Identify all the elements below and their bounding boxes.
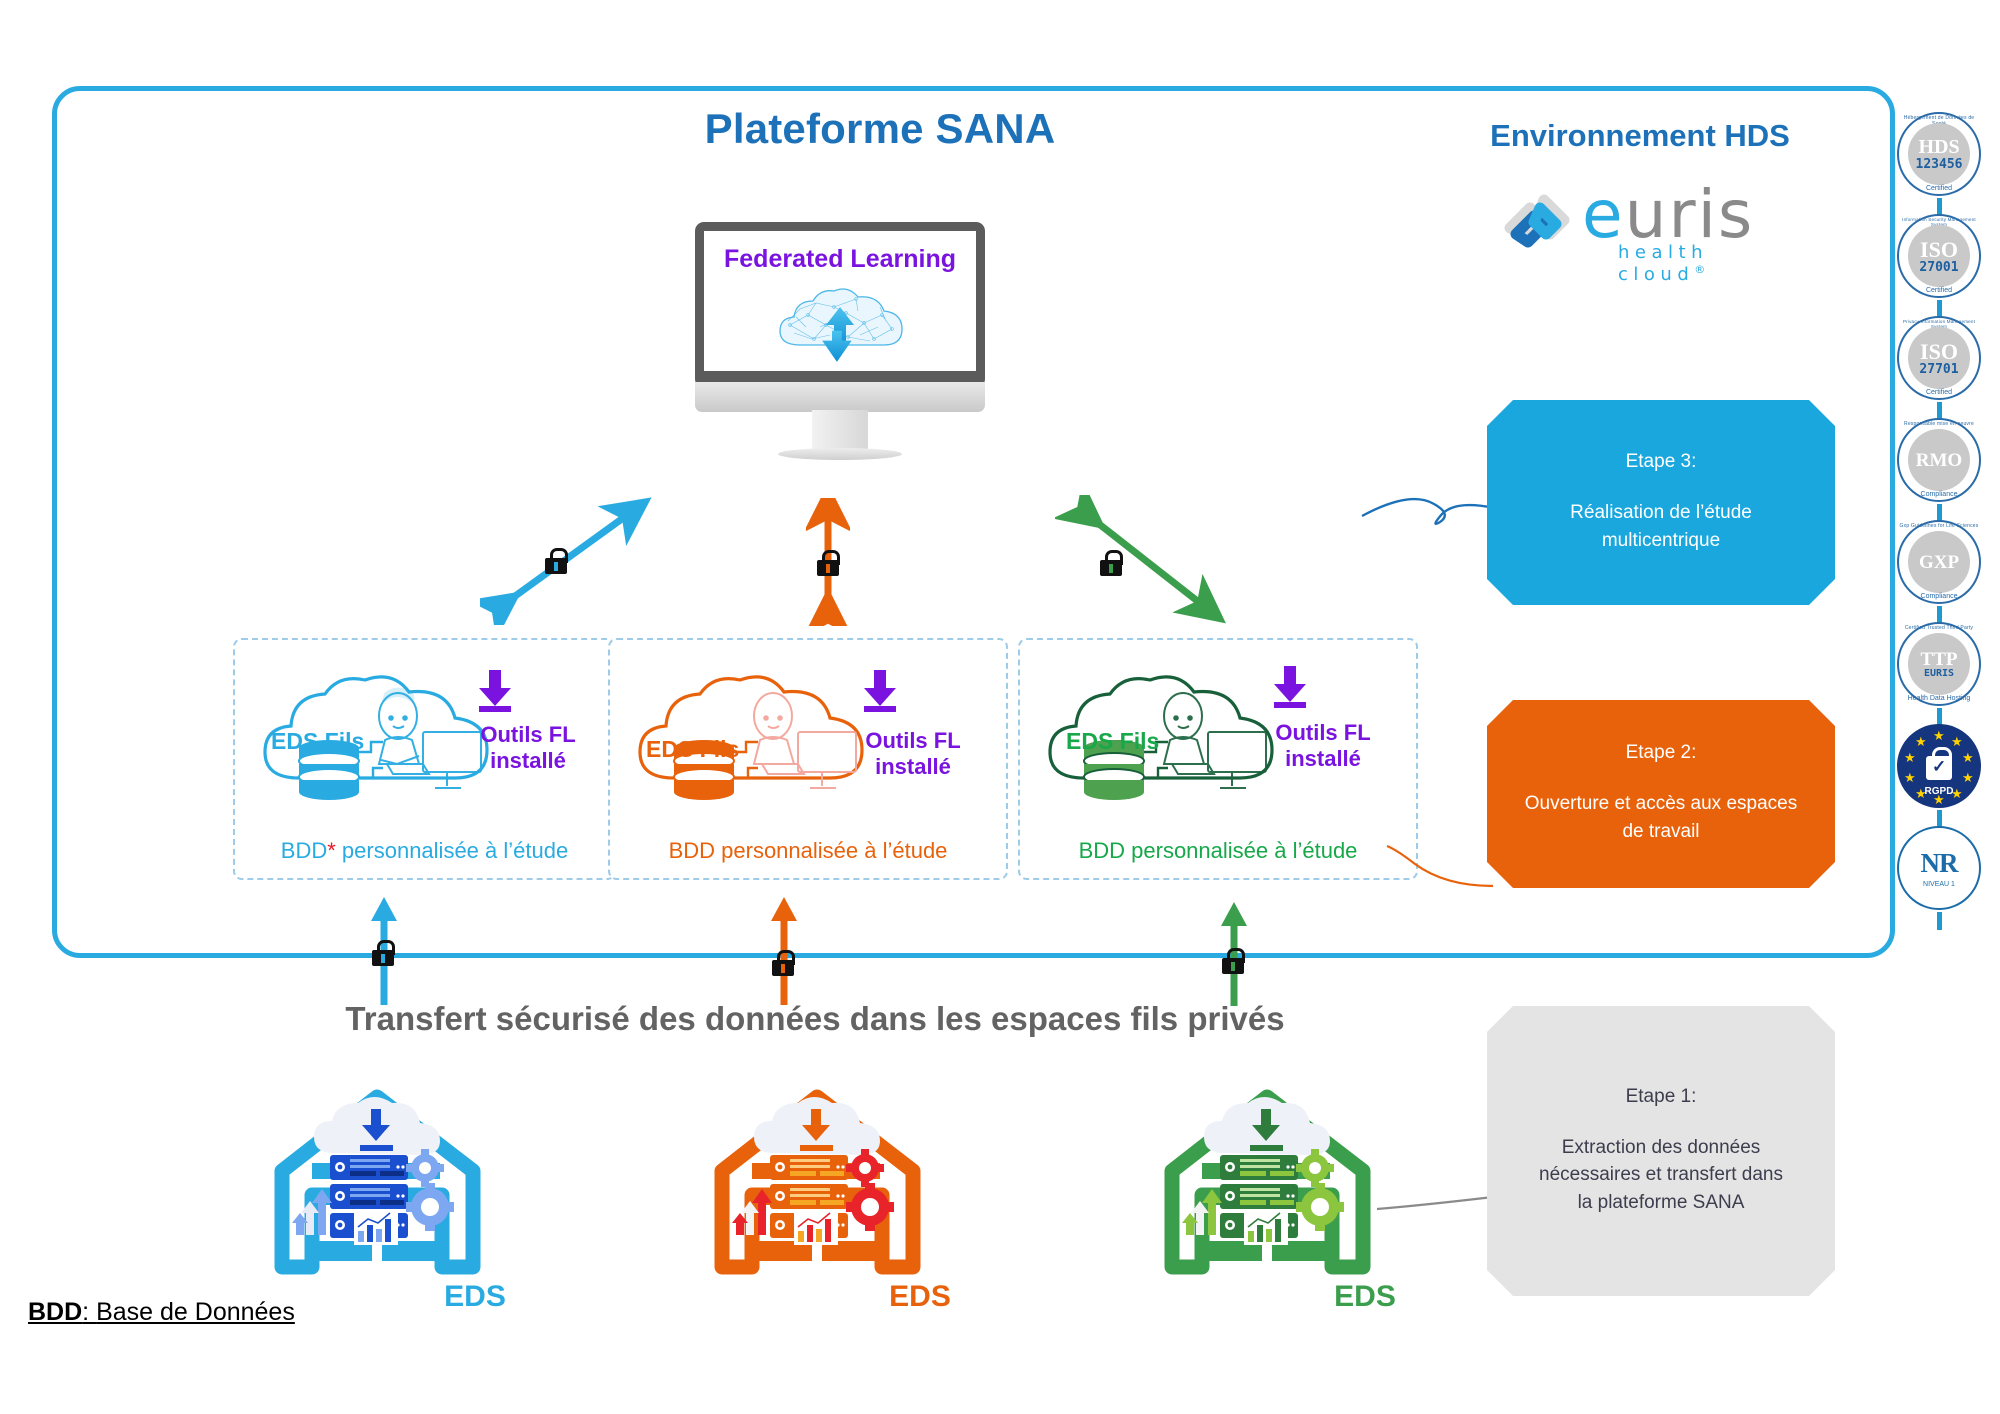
badge-iso-27001: Information Security Management System I… xyxy=(1897,214,1981,298)
step-1-box[interactable]: Etape 1: Extraction des données nécessai… xyxy=(1487,1006,1835,1296)
environment-title: Environnement HDS xyxy=(1420,118,1860,154)
datacenter-house-icon xyxy=(1160,1085,1375,1280)
fils-tools-label: Outils FLinstallé xyxy=(1258,720,1388,772)
monitor-neck xyxy=(812,410,868,452)
fils-caption: BDD personnalisée à l’étude xyxy=(1020,838,1416,864)
certification-badge-column: Hébergement de Données de Santé HDS 1234… xyxy=(1893,112,1985,928)
badge-bottom-text: Health Data Hosting xyxy=(1897,695,1981,702)
badge-main-text: GXP xyxy=(1919,553,1959,572)
padlock-icon xyxy=(545,548,567,574)
step-description: Extraction des données nécessaires et tr… xyxy=(1487,1134,1835,1217)
footnote-definition: Base de Données xyxy=(96,1298,295,1326)
badge-top-text: Certified Trusted Third Party xyxy=(1897,625,1981,631)
bar-chart-icon xyxy=(794,1211,838,1245)
transfer-banner: Transfert sécurisé des données dans les … xyxy=(255,1000,1375,1038)
eds-label: EDS xyxy=(1290,1280,1440,1314)
fils-caption: BDD personnalisée à l’étude xyxy=(610,838,1006,864)
step1-connector xyxy=(1375,1175,1495,1215)
badge-bottom-text: NIVEAU 1 xyxy=(1923,881,1955,888)
footnote: BDD: Base de Données xyxy=(28,1298,295,1327)
padlock-icon xyxy=(772,950,794,976)
fils-space-2: EDS Fils Outils FLinstallé BDD personnal… xyxy=(608,638,1008,880)
datacenter-house-icon xyxy=(270,1085,485,1280)
padlock-icon xyxy=(1100,550,1122,576)
badge-rgpd: ★ ★ ★ ★ ★ ★ ★ ★ ★ ★ ✓ RGPD xyxy=(1897,724,1981,808)
badge-bottom-text: Certified xyxy=(1897,287,1981,294)
padlock-icon xyxy=(372,940,394,966)
step2-connector xyxy=(1385,840,1495,890)
federated-learning-monitor: Federated Learning xyxy=(695,222,985,452)
badge-main-text: ISO xyxy=(1920,239,1958,261)
badge-main-text: RGPD xyxy=(1897,786,1981,797)
badge-bottom-text: Certified xyxy=(1897,389,1981,396)
badge-number: 27701 xyxy=(1919,363,1958,376)
badge-number: EURIS xyxy=(1924,669,1954,679)
badge-bottom-text: Compliance xyxy=(1897,593,1981,600)
padlock-icon xyxy=(1222,948,1244,974)
step-title: Etape 3: xyxy=(1626,451,1697,473)
datacenter-house-icon xyxy=(710,1085,925,1280)
badge-bottom-text: Certified xyxy=(1897,185,1981,192)
arrow-fl-to-fils-3 xyxy=(1055,495,1235,625)
badge-bottom-text: Compliance xyxy=(1897,491,1981,498)
arrow-fl-to-fils-1 xyxy=(480,495,660,625)
step-title: Etape 2: xyxy=(1626,742,1697,764)
footnote-abbrev: BDD xyxy=(28,1298,82,1326)
badge-ttp: Certified Trusted Third Party TTP EURIS … xyxy=(1897,622,1981,706)
fils-eds-label: EDS Fils xyxy=(1066,728,1159,755)
badge-nr: NR NIVEAU 1 xyxy=(1897,826,1981,910)
padlock-icon xyxy=(817,550,839,576)
monitor-foot xyxy=(778,448,902,460)
step-title: Etape 1: xyxy=(1626,1086,1697,1108)
euris-mark-icon xyxy=(1500,188,1576,260)
bar-chart-icon xyxy=(354,1211,398,1245)
badge-number: 27001 xyxy=(1919,261,1958,274)
monitor-screen: Federated Learning xyxy=(704,231,976,371)
eds-label: EDS xyxy=(400,1280,550,1314)
fils-space-3: EDS Fils Outils FLinstallé BDD personnal… xyxy=(1018,638,1418,880)
lock-icon: ✓ xyxy=(1926,756,1952,780)
network-cloud-icon xyxy=(760,277,920,365)
step-description: Réalisation de l’étude multicentrique xyxy=(1487,499,1835,554)
fils-eds-label: EDS Fils xyxy=(646,736,739,763)
step-description: Ouverture et accès aux espaces de travai… xyxy=(1487,790,1835,845)
badge-number: 123456 xyxy=(1916,158,1963,171)
download-icon xyxy=(860,668,900,712)
badge-main-text: NR xyxy=(1921,848,1958,879)
page-title: Plateforme SANA xyxy=(600,105,1160,153)
fils-space-1: EDS Fils Outils FLinstallé BDD* personna… xyxy=(233,638,616,880)
badge-main-text: RMO xyxy=(1916,451,1962,470)
bar-chart-icon xyxy=(1244,1211,1288,1245)
badge-top-text: Responsable mise en oeuvre xyxy=(1897,421,1981,427)
step-2-box[interactable]: Etape 2: Ouverture et accès aux espaces … xyxy=(1487,700,1835,888)
euris-logo: euris health cloud® xyxy=(1500,180,1770,270)
monitor-bezel: Federated Learning xyxy=(695,222,985,388)
footnote-separator: : xyxy=(82,1298,96,1326)
step-3-box[interactable]: Etape 3: Réalisation de l’étude multicen… xyxy=(1487,400,1835,605)
badge-iso-27701: Privacy Information Management System IS… xyxy=(1897,316,1981,400)
fils-tools-label: Outils FLinstallé xyxy=(848,728,978,780)
fils-eds-label: EDS Fils xyxy=(271,728,364,755)
badge-hds: Hébergement de Données de Santé HDS 1234… xyxy=(1897,112,1981,196)
badge-rmo: Responsable mise en oeuvre RMO Complianc… xyxy=(1897,418,1981,502)
step3-connector xyxy=(1360,470,1495,540)
download-icon xyxy=(1270,664,1310,708)
badge-main-text: ISO xyxy=(1920,341,1958,363)
badge-main-text: HDS xyxy=(1918,137,1959,157)
badge-gxp: Gxp Guidelines for Life Sciences GXP Com… xyxy=(1897,520,1981,604)
federated-learning-label: Federated Learning xyxy=(704,245,976,274)
monitor-base xyxy=(695,382,985,412)
fils-caption: BDD* personnalisée à l’étude xyxy=(235,838,614,864)
fils-tools-label: Outils FLinstallé xyxy=(463,722,593,774)
badge-top-text: Gxp Guidelines for Life Sciences xyxy=(1897,523,1981,529)
eds-label: EDS xyxy=(845,1280,995,1314)
badge-main-text: TTP xyxy=(1921,650,1958,669)
euris-tagline: health cloud® xyxy=(1618,242,1770,285)
download-icon xyxy=(475,668,515,712)
